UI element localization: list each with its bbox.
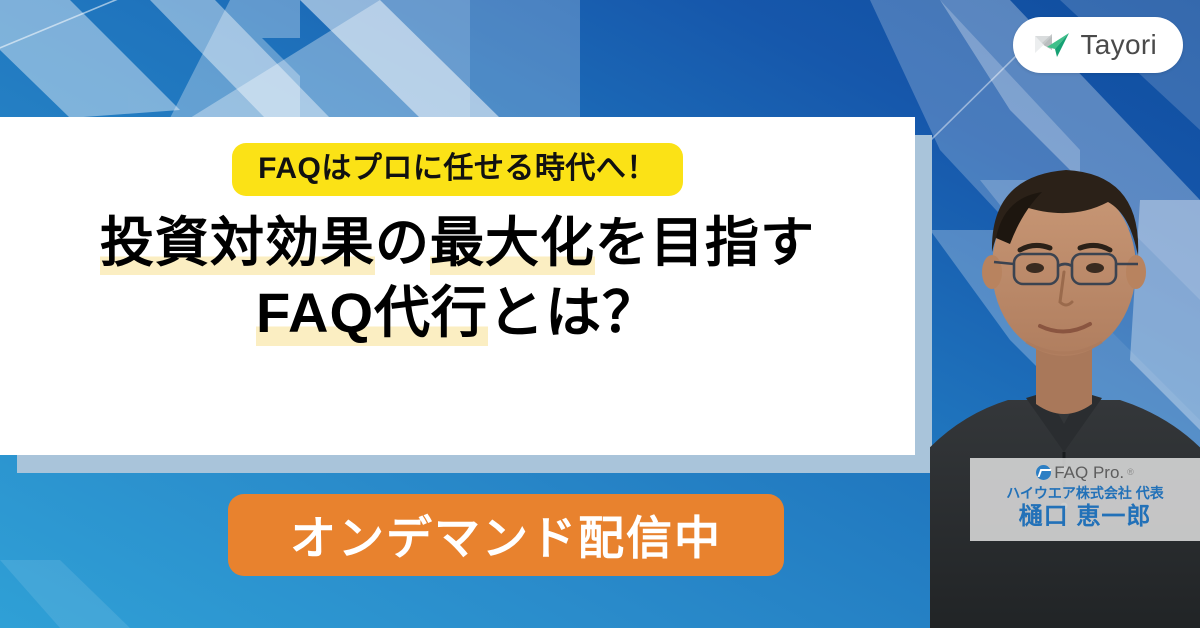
headline-line-2: FAQ代行とは？: [100, 281, 815, 346]
tayori-logo[interactable]: Tayori: [1013, 17, 1184, 73]
headline-line1-mid: の: [375, 213, 430, 273]
speaker-name: 樋口 恵一郎: [974, 502, 1196, 532]
headline-card: FAQはプロに任せる時代へ！ 投資対効果の最大化を目指す FAQ代行とは？: [0, 117, 915, 455]
registered-mark-icon: ®: [1127, 468, 1134, 477]
paper-plane-envelope-icon: [1033, 30, 1071, 60]
headline-highlight-3: FAQ代行: [256, 281, 488, 346]
headline-line2-tail: とは？: [488, 281, 659, 344]
faq-pro-brand: FAQ Pro. ®: [974, 464, 1196, 481]
eyebrow-badge: FAQはプロに任せる時代へ！: [232, 143, 683, 196]
headline-highlight-1: 投資対効果: [100, 213, 375, 275]
headline-highlight-2: 最大化: [430, 213, 595, 275]
speaker-nameplate: FAQ Pro. ® ハイウエア株式会社 代表 樋口 恵一郎: [970, 458, 1200, 541]
headline-line-1: 投資対効果の最大化を目指す: [100, 212, 815, 275]
faq-pro-logo-icon: [1036, 465, 1051, 480]
on-demand-cta-button[interactable]: オンデマンド配信中: [228, 494, 784, 576]
faq-pro-brand-label: FAQ Pro.: [1054, 464, 1124, 481]
headline-line1-tail: を目指す: [595, 213, 815, 273]
page-title: 投資対効果の最大化を目指す FAQ代行とは？: [100, 212, 815, 346]
webinar-promo-banner: FAQはプロに任せる時代へ！ 投資対効果の最大化を目指す FAQ代行とは？ オン…: [0, 0, 1200, 628]
speaker-company: ハイウエア株式会社 代表: [974, 485, 1196, 502]
tayori-wordmark: Tayori: [1081, 31, 1158, 59]
